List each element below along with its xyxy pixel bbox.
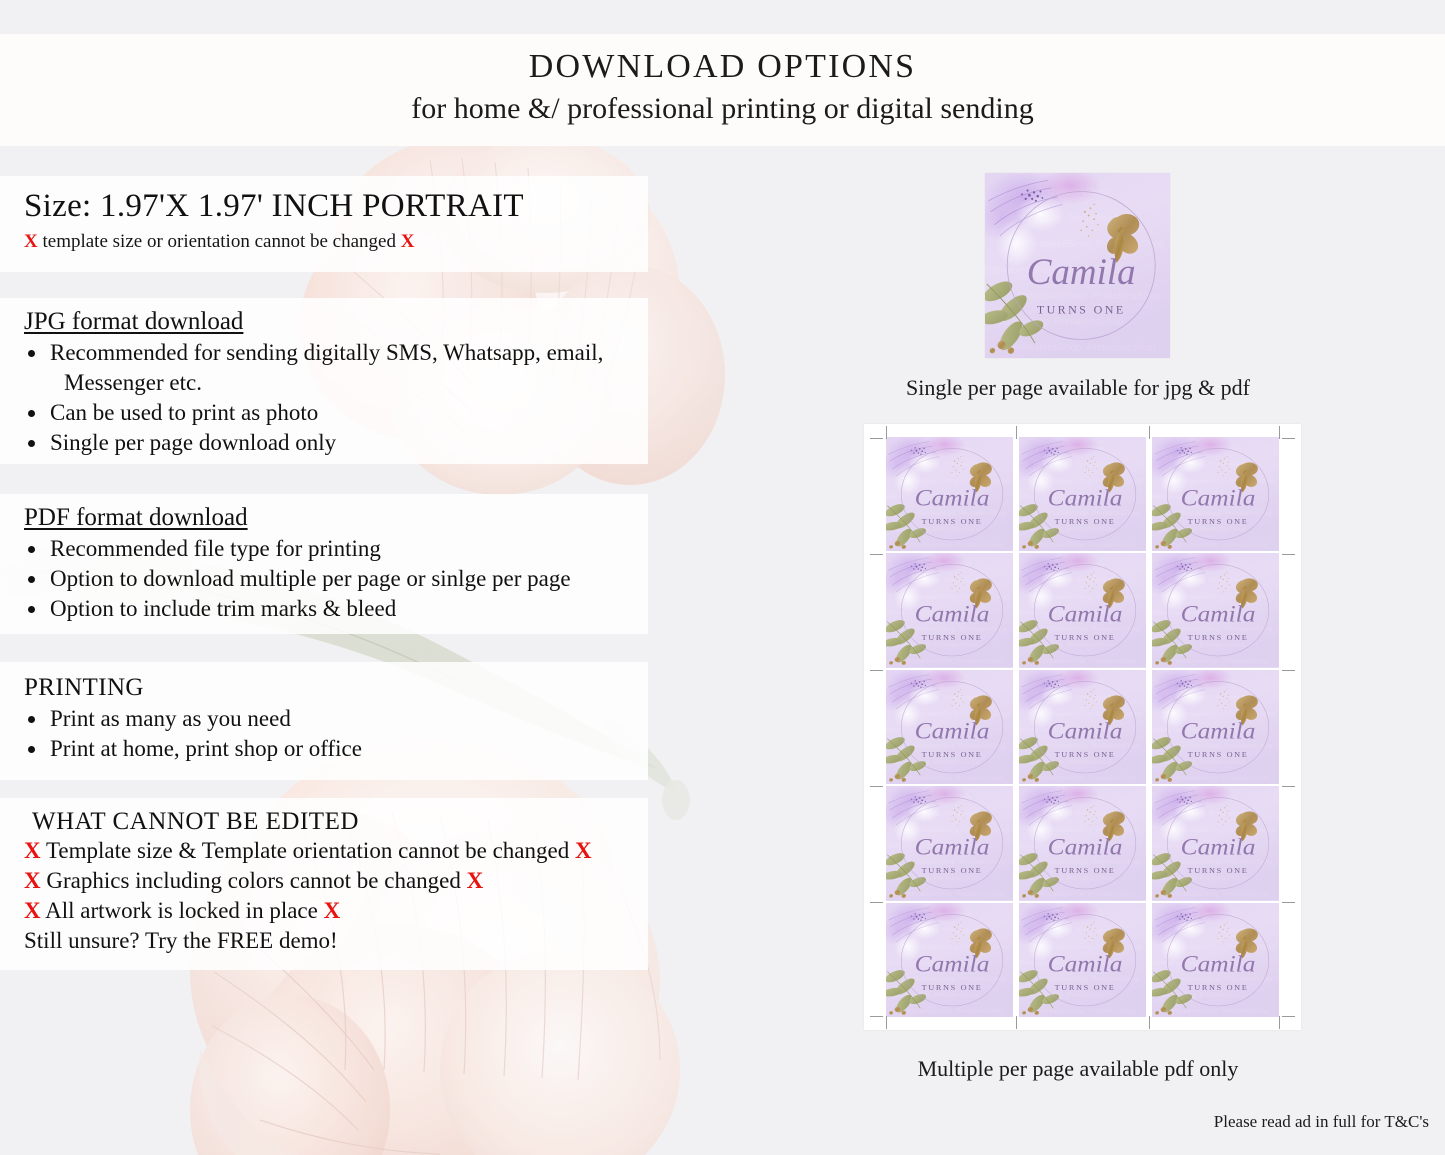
svg-text:Camila: Camila xyxy=(1027,252,1136,293)
svg-text:PrintablesShop: PrintablesShop xyxy=(1038,1008,1086,1015)
cannot-edit-heading: WHAT CANNOT BE EDITED xyxy=(24,798,359,836)
svg-text:Camila: Camila xyxy=(915,486,990,512)
cannot-edit-text: Graphics including colors cannot be chan… xyxy=(46,868,461,893)
multiple-preview-caption: Multiple per page available pdf only xyxy=(858,1056,1298,1082)
list-item-text: Messenger etc. xyxy=(64,370,202,395)
x-mark-icon: X xyxy=(24,838,41,863)
svg-text:PrintablesShop: PrintablesShop xyxy=(1200,642,1248,649)
x-mark-icon: X xyxy=(324,898,341,923)
svg-text:TURNS ONE: TURNS ONE xyxy=(922,634,983,643)
preview-tile: PrintablesShop PrintablesShop Printables… xyxy=(1019,553,1146,667)
svg-text:PrintablesShop: PrintablesShop xyxy=(1171,775,1219,782)
trim-mark xyxy=(1282,902,1295,903)
list-item-text: Single per page download only xyxy=(50,430,336,455)
svg-text:PrintablesShop: PrintablesShop xyxy=(934,992,982,999)
bullet-dot-icon xyxy=(28,746,35,753)
list-item: Recommended file type for printing xyxy=(24,534,648,564)
bullet-dot-icon xyxy=(28,576,35,583)
trim-mark xyxy=(1016,1016,1017,1029)
card-artwork: PrintablesShop PrintablesShop Printables… xyxy=(886,786,1013,900)
svg-text:Camila: Camila xyxy=(915,719,990,745)
card-artwork: PrintablesShop PrintablesShop Printables… xyxy=(1152,903,1279,1017)
x-mark-icon: X xyxy=(467,868,484,893)
cannot-edit-text: Template size & Template orientation can… xyxy=(46,838,569,863)
bullet-dot-icon xyxy=(28,606,35,613)
svg-text:PrintablesShop: PrintablesShop xyxy=(956,1008,1004,1015)
svg-text:Camila: Camila xyxy=(1181,835,1256,861)
size-note-text: template size or orientation cannot be c… xyxy=(42,231,395,252)
trim-mark xyxy=(1016,426,1017,439)
trim-mark xyxy=(870,786,883,787)
svg-text:PrintablesShop: PrintablesShop xyxy=(1089,891,1137,898)
svg-text:Camila: Camila xyxy=(1181,486,1256,512)
card-artwork: PrintablesShop PrintablesShop Printables… xyxy=(886,670,1013,784)
preview-tile: PrintablesShop PrintablesShop Printables… xyxy=(1019,437,1146,551)
card-artwork: PrintablesShop PrintablesShop Printables… xyxy=(886,903,1013,1017)
x-mark-icon: X xyxy=(401,231,415,252)
card-artwork: PrintablesShop PrintablesShop Printables… xyxy=(1152,670,1279,784)
svg-text:PrintablesShop: PrintablesShop xyxy=(934,875,982,882)
bullet-dot-icon xyxy=(28,410,35,417)
svg-text:TURNS ONE: TURNS ONE xyxy=(922,983,983,992)
svg-text:Camila: Camila xyxy=(1181,951,1256,977)
svg-text:PrintablesShop: PrintablesShop xyxy=(1200,526,1248,533)
preview-tile: PrintablesShop PrintablesShop Printables… xyxy=(886,786,1013,900)
svg-text:PrintablesShop: PrintablesShop xyxy=(1089,1008,1137,1015)
list-item: Option to include trim marks & bleed xyxy=(24,594,648,624)
size-title: Size: 1.97'X 1.97' INCH PORTRAIT xyxy=(24,176,648,227)
svg-text:PrintablesShop: PrintablesShop xyxy=(905,658,953,665)
list-item: Option to download multiple per page or … xyxy=(24,564,648,594)
svg-text:PrintablesShop: PrintablesShop xyxy=(905,891,953,898)
svg-text:PrintablesShop: PrintablesShop xyxy=(956,542,1004,549)
svg-text:TURNS ONE: TURNS ONE xyxy=(1037,303,1126,317)
svg-text:Camila: Camila xyxy=(915,951,990,977)
cannot-edit-closing: Still unsure? Try the FREE demo! xyxy=(24,926,648,956)
list-item: Print at home, print shop or office xyxy=(24,734,648,764)
single-page-preview-card: PrintablesShop PrintablesShop Printables… xyxy=(985,173,1170,358)
printing-heading: PRINTING xyxy=(24,662,144,702)
svg-text:PrintablesShop: PrintablesShop xyxy=(1067,526,1115,533)
svg-text:PrintablesShop: PrintablesShop xyxy=(1222,658,1270,665)
preview-tile: PrintablesShop PrintablesShop Printables… xyxy=(1152,553,1279,667)
svg-text:TURNS ONE: TURNS ONE xyxy=(922,750,983,759)
preview-tile: PrintablesShop PrintablesShop Printables… xyxy=(1019,670,1146,784)
x-mark-icon: X xyxy=(24,898,41,923)
trim-mark xyxy=(1282,786,1295,787)
preview-tile: PrintablesShop PrintablesShop Printables… xyxy=(1019,903,1146,1017)
svg-text:PrintablesShop: PrintablesShop xyxy=(1087,343,1156,354)
svg-text:PrintablesShop: PrintablesShop xyxy=(1067,759,1115,766)
svg-text:Camila: Camila xyxy=(1048,835,1123,861)
trim-mark xyxy=(1149,1016,1150,1029)
svg-text:Camila: Camila xyxy=(1048,486,1123,512)
card-artwork: PrintablesShop PrintablesShop Printables… xyxy=(1019,553,1146,667)
svg-text:TURNS ONE: TURNS ONE xyxy=(1188,750,1249,759)
trim-mark xyxy=(1149,426,1150,439)
trim-mark xyxy=(870,670,883,671)
svg-text:PrintablesShop: PrintablesShop xyxy=(1171,542,1219,549)
preview-tile: PrintablesShop PrintablesShop Printables… xyxy=(886,903,1013,1017)
svg-text:PrintablesShop: PrintablesShop xyxy=(1054,317,1123,328)
card-artwork: PrintablesShop PrintablesShop Printables… xyxy=(1019,437,1146,551)
single-preview-caption: Single per page available for jpg & pdf xyxy=(858,375,1298,401)
svg-text:TURNS ONE: TURNS ONE xyxy=(1188,867,1249,876)
page-subtitle: for home &/ professional printing or dig… xyxy=(0,92,1445,126)
svg-text:PrintablesShop: PrintablesShop xyxy=(1013,343,1082,354)
preview-tile: PrintablesShop PrintablesShop Printables… xyxy=(886,670,1013,784)
svg-text:PrintablesShop: PrintablesShop xyxy=(934,759,982,766)
svg-text:PrintablesShop: PrintablesShop xyxy=(956,658,1004,665)
trim-mark xyxy=(1282,554,1295,555)
pdf-bullet-list: Recommended file type for printing Optio… xyxy=(24,534,648,624)
card-artwork: PrintablesShop PrintablesShop Printables… xyxy=(1019,670,1146,784)
svg-text:PrintablesShop: PrintablesShop xyxy=(1200,759,1248,766)
svg-text:TURNS ONE: TURNS ONE xyxy=(1055,983,1116,992)
svg-text:PrintablesShop: PrintablesShop xyxy=(1200,875,1248,882)
preview-tile: PrintablesShop PrintablesShop Printables… xyxy=(1019,786,1146,900)
list-item-text: Recommended file type for printing xyxy=(50,536,381,561)
svg-text:PrintablesShop: PrintablesShop xyxy=(956,891,1004,898)
card-artwork: PrintablesShop PrintablesShop Printables… xyxy=(1019,903,1146,1017)
cannot-edit-line: X All artwork is locked in place X xyxy=(24,896,648,926)
trim-mark xyxy=(1279,1016,1280,1029)
bullet-dot-icon xyxy=(28,716,35,723)
svg-text:PrintablesShop: PrintablesShop xyxy=(1200,992,1248,999)
trim-mark xyxy=(1282,438,1295,439)
preview-tile: PrintablesShop PrintablesShop Printables… xyxy=(1152,903,1279,1017)
svg-text:PrintablesShop: PrintablesShop xyxy=(1222,542,1270,549)
svg-text:PrintablesShop: PrintablesShop xyxy=(1089,542,1137,549)
cannot-edit-line: X Graphics including colors cannot be ch… xyxy=(24,866,648,896)
svg-text:PrintablesShop: PrintablesShop xyxy=(1038,658,1086,665)
svg-text:Camila: Camila xyxy=(1048,951,1123,977)
card-artwork: PrintablesShop PrintablesShop Printables… xyxy=(985,173,1170,358)
svg-text:Camila: Camila xyxy=(1181,602,1256,628)
card-artwork: PrintablesShop PrintablesShop Printables… xyxy=(1152,437,1279,551)
card-artwork: PrintablesShop PrintablesShop Printables… xyxy=(1152,786,1279,900)
list-item-text: Recommended for sending digitally SMS, W… xyxy=(50,340,603,365)
list-item: Recommended for sending digitally SMS, W… xyxy=(24,338,648,368)
printing-bullet-list: Print as many as you need Print at home,… xyxy=(24,704,648,764)
jpg-format-panel: JPG format download Recommended for send… xyxy=(0,298,648,464)
svg-text:PrintablesShop: PrintablesShop xyxy=(1222,775,1270,782)
svg-text:PrintablesShop: PrintablesShop xyxy=(1171,891,1219,898)
svg-text:Camila: Camila xyxy=(1181,719,1256,745)
trim-mark xyxy=(886,1016,887,1029)
svg-text:TURNS ONE: TURNS ONE xyxy=(922,867,983,876)
preview-tile: PrintablesShop PrintablesShop Printables… xyxy=(1152,786,1279,900)
list-item: Can be used to print as photo xyxy=(24,398,648,428)
trim-mark xyxy=(870,438,883,439)
svg-text:TURNS ONE: TURNS ONE xyxy=(1055,867,1116,876)
trim-mark xyxy=(870,554,883,555)
svg-text:PrintablesShop: PrintablesShop xyxy=(905,1008,953,1015)
list-item: Print as many as you need xyxy=(24,704,648,734)
svg-text:PrintablesShop: PrintablesShop xyxy=(1171,658,1219,665)
svg-text:TURNS ONE: TURNS ONE xyxy=(1188,983,1249,992)
preview-tile: PrintablesShop PrintablesShop Printables… xyxy=(886,437,1013,551)
trim-mark xyxy=(1282,1016,1295,1017)
svg-text:PrintablesShop: PrintablesShop xyxy=(1038,891,1086,898)
trim-mark xyxy=(870,1016,883,1017)
preview-tile-grid: PrintablesShop PrintablesShop Printables… xyxy=(886,437,1279,1017)
svg-text:PrintablesShop: PrintablesShop xyxy=(1067,642,1115,649)
svg-text:TURNS ONE: TURNS ONE xyxy=(1188,517,1249,526)
floral-background-decoration xyxy=(0,120,880,1155)
pdf-heading: PDF format download xyxy=(24,494,248,532)
list-item-text: Print as many as you need xyxy=(50,706,291,731)
svg-text:TURNS ONE: TURNS ONE xyxy=(1055,634,1116,643)
list-item: Single per page download only xyxy=(24,428,648,458)
svg-text:PrintablesShop: PrintablesShop xyxy=(1089,658,1137,665)
size-panel: Size: 1.97'X 1.97' INCH PORTRAIT X templ… xyxy=(0,176,648,272)
list-item-text: Option to download multiple per page or … xyxy=(50,566,571,591)
svg-text:PrintablesShop: PrintablesShop xyxy=(1038,542,1086,549)
cannot-edit-line: X Template size & Template orientation c… xyxy=(24,836,648,866)
x-mark-icon: X xyxy=(24,868,41,893)
preview-tile: PrintablesShop PrintablesShop Printables… xyxy=(1152,670,1279,784)
preview-tile: PrintablesShop PrintablesShop Printables… xyxy=(1152,437,1279,551)
size-note: X template size or orientation cannot be… xyxy=(24,231,648,253)
x-mark-icon: X xyxy=(575,838,592,863)
svg-text:PrintablesShop: PrintablesShop xyxy=(1067,992,1115,999)
trim-mark xyxy=(870,902,883,903)
svg-text:PrintablesShop: PrintablesShop xyxy=(1171,1008,1219,1015)
svg-text:Camila: Camila xyxy=(915,602,990,628)
svg-text:PrintablesShop: PrintablesShop xyxy=(934,642,982,649)
pdf-format-panel: PDF format download Recommended file typ… xyxy=(0,494,648,634)
list-item-text: Can be used to print as photo xyxy=(50,400,318,425)
svg-text:Camila: Camila xyxy=(915,835,990,861)
trim-mark xyxy=(1282,670,1295,671)
svg-text:TURNS ONE: TURNS ONE xyxy=(1055,750,1116,759)
list-item-text: Option to include trim marks & bleed xyxy=(50,596,396,621)
list-item-text: Print at home, print shop or office xyxy=(50,736,362,761)
x-mark-icon: X xyxy=(24,231,38,252)
svg-text:PrintablesShop: PrintablesShop xyxy=(1038,775,1086,782)
card-artwork: PrintablesShop PrintablesShop Printables… xyxy=(886,437,1013,551)
jpg-bullet-list: Recommended for sending digitally SMS, W… xyxy=(24,338,648,459)
terms-note: Please read ad in full for T&C's xyxy=(1214,1112,1429,1132)
svg-text:Camila: Camila xyxy=(1048,602,1123,628)
svg-text:PrintablesShop: PrintablesShop xyxy=(1067,875,1115,882)
printing-panel: PRINTING Print as many as you need Print… xyxy=(0,662,648,780)
svg-text:TURNS ONE: TURNS ONE xyxy=(922,517,983,526)
cannot-edit-text: All artwork is locked in place xyxy=(45,898,318,923)
svg-text:PrintablesShop: PrintablesShop xyxy=(956,775,1004,782)
svg-text:TURNS ONE: TURNS ONE xyxy=(1055,517,1116,526)
jpg-heading: JPG format download xyxy=(24,298,243,336)
card-artwork: PrintablesShop PrintablesShop Printables… xyxy=(1152,553,1279,667)
card-artwork: PrintablesShop PrintablesShop Printables… xyxy=(886,553,1013,667)
card-artwork: PrintablesShop PrintablesShop Printables… xyxy=(1019,786,1146,900)
svg-text:PrintablesShop: PrintablesShop xyxy=(905,542,953,549)
svg-text:PrintablesShop: PrintablesShop xyxy=(934,526,982,533)
svg-text:PrintablesShop: PrintablesShop xyxy=(1222,1008,1270,1015)
list-item: Messenger etc. xyxy=(24,368,648,398)
svg-text:TURNS ONE: TURNS ONE xyxy=(1188,634,1249,643)
svg-text:PrintablesShop: PrintablesShop xyxy=(1089,775,1137,782)
trim-mark xyxy=(1279,426,1280,439)
cannot-edit-panel: WHAT CANNOT BE EDITED X Template size & … xyxy=(0,798,648,970)
bullet-dot-icon xyxy=(28,546,35,553)
trim-mark xyxy=(886,426,887,439)
bullet-dot-icon xyxy=(28,440,35,447)
bullet-dot-icon xyxy=(28,350,35,357)
svg-text:PrintablesShop: PrintablesShop xyxy=(1222,891,1270,898)
svg-text:Camila: Camila xyxy=(1048,719,1123,745)
preview-tile: PrintablesShop PrintablesShop Printables… xyxy=(886,553,1013,667)
multiple-page-preview-sheet: PrintablesShop PrintablesShop Printables… xyxy=(864,424,1301,1030)
poster-canvas: DOWNLOAD OPTIONS for home &/ professiona… xyxy=(0,0,1445,1155)
page-title: DOWNLOAD OPTIONS xyxy=(0,48,1445,86)
svg-text:PrintablesShop: PrintablesShop xyxy=(905,775,953,782)
